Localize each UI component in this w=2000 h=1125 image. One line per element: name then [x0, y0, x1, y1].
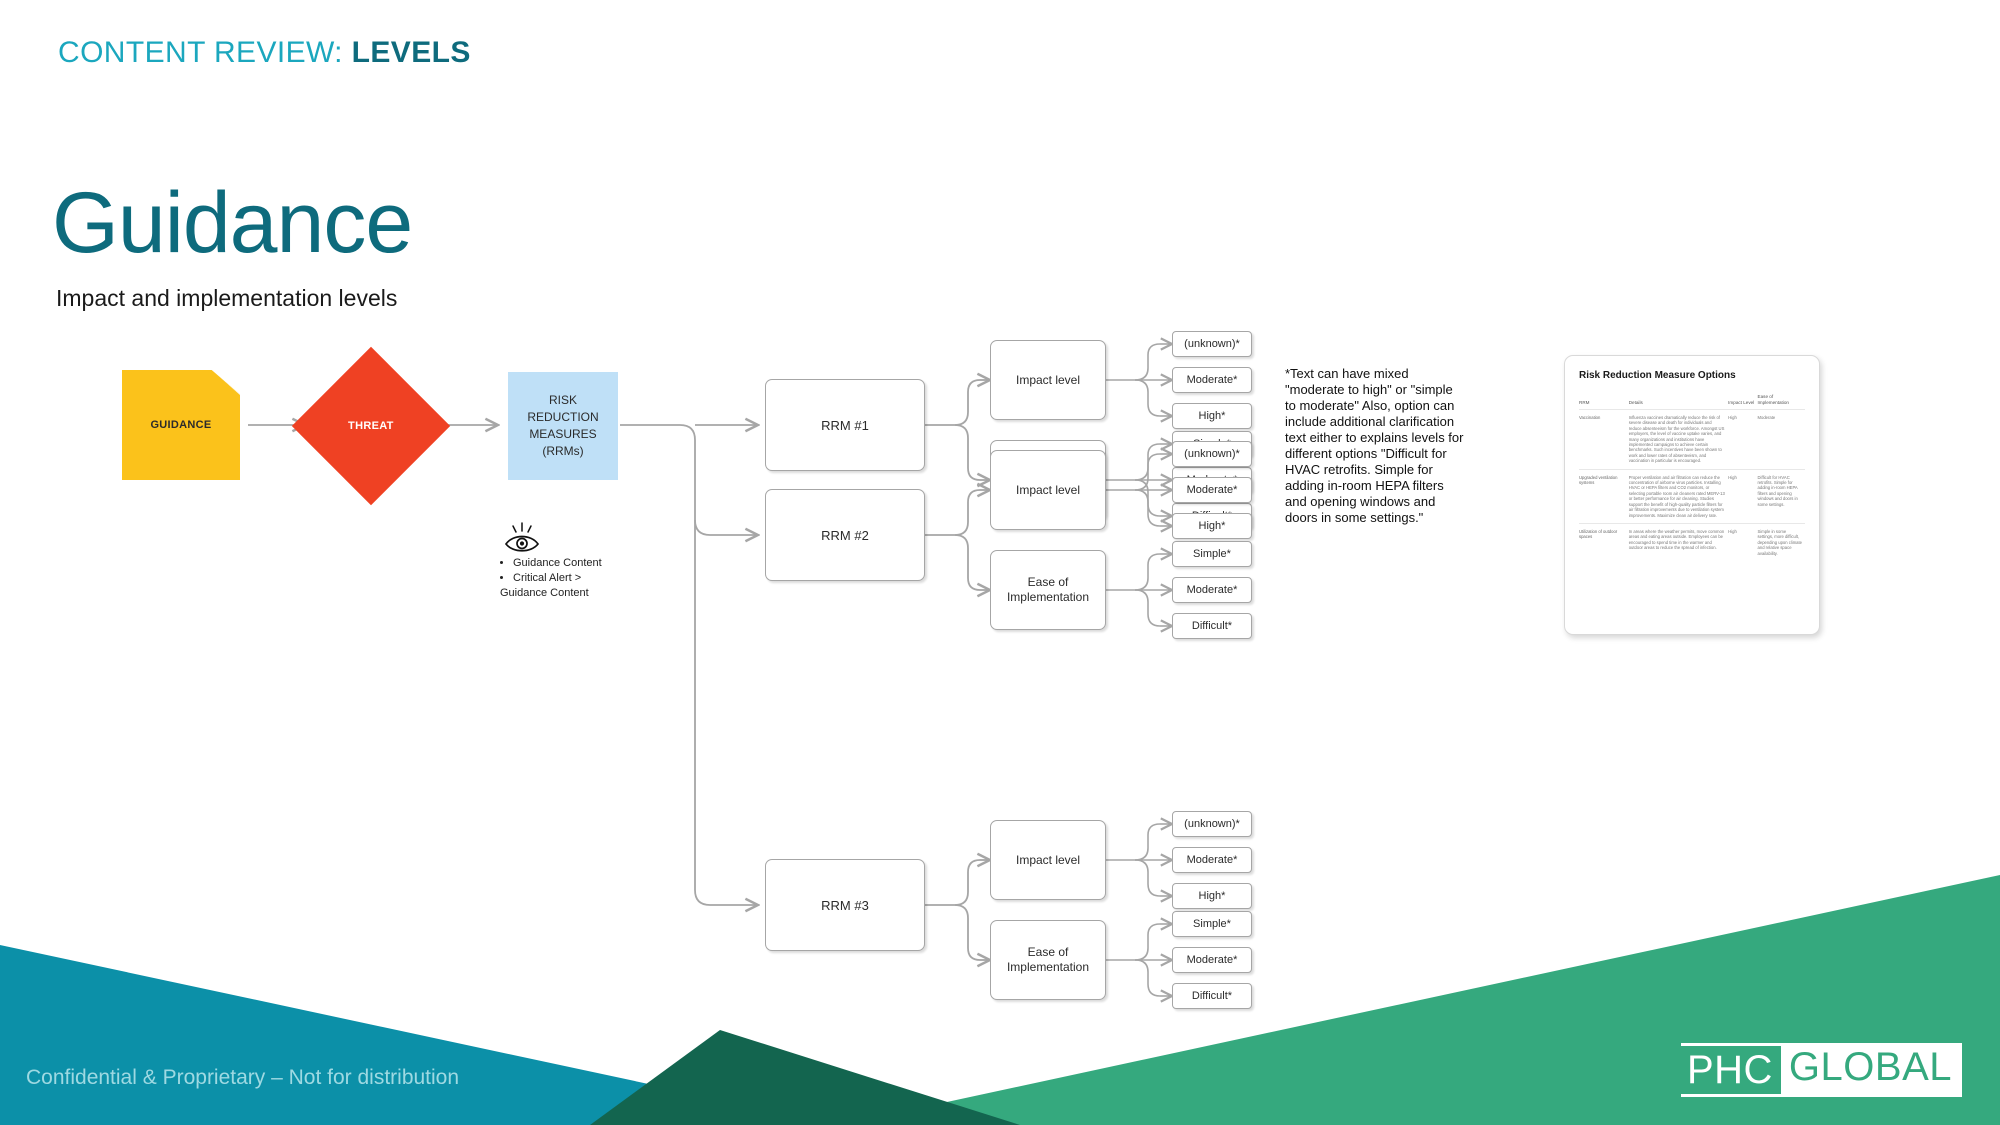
cell-rrm: Upgraded ventilation systems	[1579, 469, 1629, 523]
eyebrow-light-text: CONTENT REVIEW:	[58, 36, 352, 69]
ease-leaf-moderate-2[interactable]: Moderate*	[1172, 577, 1252, 603]
rrms-line-2: REDUCTION	[527, 409, 598, 426]
cell-details: Proper ventilation and air filtration ca…	[1629, 469, 1728, 523]
table-row: Vaccination Influenza vaccines dramatica…	[1579, 410, 1805, 470]
cell-rrm: Vaccination	[1579, 410, 1629, 470]
rrm-node-label: RRM #1	[821, 418, 869, 433]
thumbnail-table: RRM Details Impact Level Ease of Impleme…	[1579, 394, 1805, 561]
cell-ease: Difficult for HVAC retrofits. Simple for…	[1758, 469, 1805, 523]
impact-level-node-2[interactable]: Impact level	[990, 450, 1106, 530]
impact-level-label: Impact level	[1016, 853, 1080, 868]
threat-node-label: THREAT	[348, 420, 394, 432]
impact-leaf-unknown-3[interactable]: (unknown)*	[1172, 811, 1252, 837]
guidance-document-node[interactable]: GUIDANCE	[122, 370, 240, 480]
impact-leaf-high-1[interactable]: High*	[1172, 403, 1252, 429]
rrm-node-1[interactable]: RRM #1	[765, 379, 925, 471]
impact-level-node-1[interactable]: Impact level	[990, 340, 1106, 420]
list-item: Critical Alert >	[513, 571, 635, 586]
leaf-label: Simple*	[1193, 548, 1231, 560]
cell-details: In areas where the weather permits, move…	[1629, 523, 1728, 561]
rrm-node-label: RRM #2	[821, 528, 869, 543]
footer-triangle-overlap	[590, 1030, 1020, 1125]
thumbnail-title: Risk Reduction Measure Options	[1579, 370, 1805, 381]
leaf-label: Difficult*	[1192, 620, 1232, 632]
leaf-label: High*	[1199, 410, 1226, 422]
leaf-label: Moderate*	[1187, 484, 1238, 496]
leaf-label: (unknown)*	[1184, 818, 1240, 830]
phc-global-logo: PHC GLOBAL	[1681, 1043, 1962, 1097]
column-header-ease: Ease of Implementation	[1758, 394, 1805, 410]
annotation-continuation: Guidance Content	[500, 586, 635, 601]
impact-leaf-unknown-1[interactable]: (unknown)*	[1172, 331, 1252, 357]
leaf-label: Moderate*	[1187, 584, 1238, 596]
cell-details: Influenza vaccines dramatically reduce t…	[1629, 410, 1728, 470]
leaf-label: Moderate*	[1187, 374, 1238, 386]
ease-label-line-1: Ease of	[1028, 575, 1069, 590]
impact-leaf-moderate-2[interactable]: Moderate*	[1172, 477, 1252, 503]
leaf-label: (unknown)*	[1184, 448, 1240, 460]
ease-leaf-simple-2[interactable]: Simple*	[1172, 541, 1252, 567]
guidance-node-label: GUIDANCE	[150, 419, 211, 431]
annotation-bullet-list: Guidance Content Critical Alert > Guidan…	[500, 556, 635, 601]
column-header-impact: Impact Level	[1728, 394, 1757, 410]
ease-label-line-2: Implementation	[1007, 590, 1089, 605]
impact-leaf-high-2[interactable]: High*	[1172, 513, 1252, 539]
slide: CONTENT REVIEW: LEVELS Guidance Impact a…	[0, 0, 2000, 1125]
rrms-line-4: (RRMs)	[542, 443, 583, 460]
footnote-text: *Text can have mixed "moderate to high" …	[1285, 366, 1465, 526]
column-header-details: Details	[1629, 394, 1728, 410]
risk-reduction-measure-options-thumbnail[interactable]: Risk Reduction Measure Options RRM Detai…	[1564, 355, 1820, 635]
impact-leaf-unknown-2[interactable]: (unknown)*	[1172, 441, 1252, 467]
cell-impact: High	[1728, 410, 1757, 470]
rrms-line-3: MEASURES	[529, 426, 596, 443]
leaf-label: (unknown)*	[1184, 338, 1240, 350]
cell-ease: Moderate	[1758, 410, 1805, 470]
ease-leaf-difficult-2[interactable]: Difficult*	[1172, 613, 1252, 639]
impact-level-label: Impact level	[1016, 483, 1080, 498]
list-item: Guidance Content	[513, 556, 635, 571]
ease-of-implementation-node-2[interactable]: Ease of Implementation	[990, 550, 1106, 630]
eye-icon	[500, 520, 544, 554]
slide-eyebrow: CONTENT REVIEW: LEVELS	[58, 36, 471, 70]
risk-reduction-measures-node[interactable]: RISK REDUCTION MEASURES (RRMs)	[508, 372, 618, 480]
rrms-line-1: RISK	[549, 392, 577, 409]
table-header-row: RRM Details Impact Level Ease of Impleme…	[1579, 394, 1805, 410]
cell-ease: Simple in some settings, more difficult,…	[1758, 523, 1805, 561]
table-row: Utilization of outdoor spaces In areas w…	[1579, 523, 1805, 561]
logo-global-text: GLOBAL	[1781, 1043, 1962, 1097]
leaf-label: High*	[1199, 520, 1226, 532]
eyebrow-bold-text: LEVELS	[352, 36, 471, 69]
confidentiality-notice: Confidential & Proprietary – Not for dis…	[26, 1066, 459, 1090]
impact-leaf-moderate-1[interactable]: Moderate*	[1172, 367, 1252, 393]
impact-leaf-moderate-3[interactable]: Moderate*	[1172, 847, 1252, 873]
logo-phc-text: PHC	[1681, 1043, 1781, 1097]
leaf-label: Moderate*	[1187, 854, 1238, 866]
cell-impact: High	[1728, 469, 1757, 523]
cell-impact: High	[1728, 523, 1757, 561]
rrm-node-2[interactable]: RRM #2	[765, 489, 925, 581]
cell-rrm: Utilization of outdoor spaces	[1579, 523, 1629, 561]
table-row: Upgraded ventilation systems Proper vent…	[1579, 469, 1805, 523]
page-title: Guidance	[52, 180, 412, 266]
page-subtitle: Impact and implementation levels	[56, 285, 397, 312]
column-header-rrm: RRM	[1579, 394, 1629, 410]
impact-level-label: Impact level	[1016, 373, 1080, 388]
